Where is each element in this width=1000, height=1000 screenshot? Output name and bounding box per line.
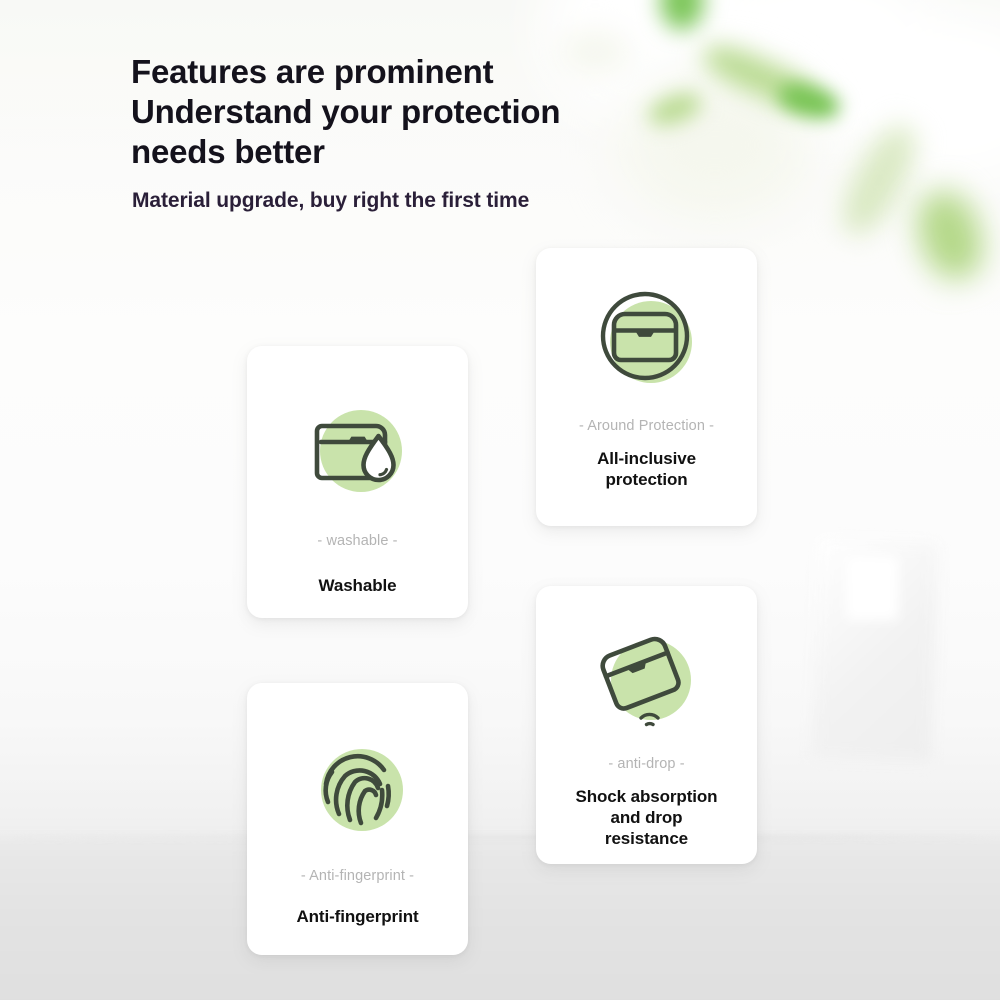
case-with-water-drop-icon	[298, 391, 418, 511]
tilted-case-bounce-icon	[587, 618, 707, 738]
card-title-line: Shock absorption	[576, 787, 718, 806]
card-title: All-inclusive protection	[597, 448, 696, 490]
promo-banner: Features are prominent Understand your p…	[0, 0, 1000, 1000]
page-title: Features are prominent Understand your p…	[131, 52, 731, 172]
headline-line-1: Features are prominent	[131, 53, 493, 90]
card-title: Anti-fingerprint	[296, 906, 418, 927]
card-title-line: resistance	[605, 829, 688, 848]
feature-card-anti-fingerprint: - Anti-fingerprint - Anti-fingerprint	[247, 683, 468, 955]
headline-line-3: needs better	[131, 133, 325, 170]
card-title-line: Anti-fingerprint	[296, 907, 418, 926]
card-tagline: - washable -	[317, 533, 397, 549]
page-subtitle: Material upgrade, buy right the first ti…	[132, 188, 731, 214]
card-tagline: - Anti-fingerprint -	[301, 868, 414, 884]
card-tagline: - anti-drop -	[608, 756, 684, 772]
feature-card-anti-drop: - anti-drop - Shock absorption and drop …	[536, 586, 757, 864]
fingerprint-icon	[298, 728, 418, 848]
headline-line-2: Understand your protection	[131, 93, 560, 130]
feature-card-washable: - washable - Washable	[247, 346, 468, 618]
case-in-ring-icon	[587, 280, 707, 400]
card-title-line: Washable	[319, 576, 397, 595]
card-title-line: protection	[605, 470, 687, 489]
card-title-line: and drop	[611, 808, 683, 827]
card-tagline: - Around Protection -	[579, 418, 714, 434]
feature-card-around-protection: - Around Protection - All-inclusive prot…	[536, 248, 757, 526]
card-title-line: All-inclusive	[597, 449, 696, 468]
header-block: Features are prominent Understand your p…	[131, 52, 731, 214]
card-title: Washable	[319, 575, 397, 596]
card-title: Shock absorption and drop resistance	[576, 786, 718, 849]
